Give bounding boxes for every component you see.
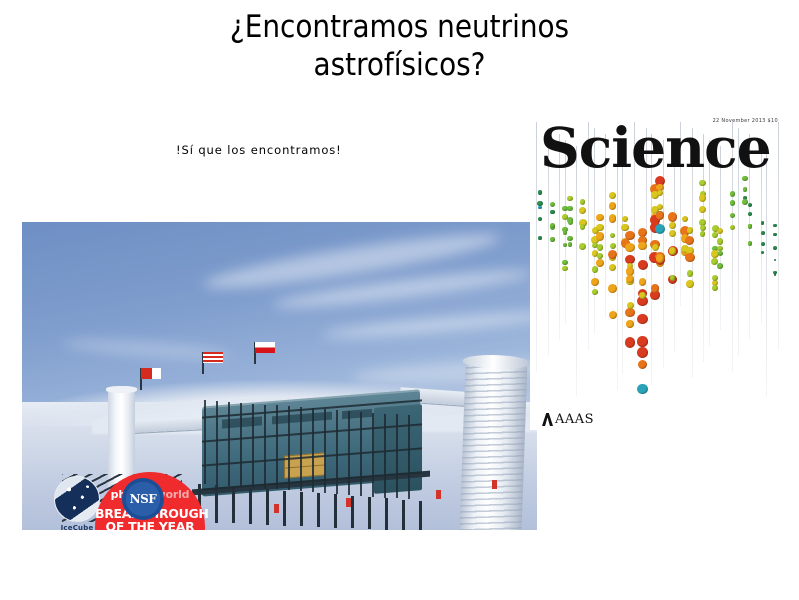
event-hit bbox=[761, 251, 764, 254]
event-hit bbox=[538, 236, 542, 240]
event-hit bbox=[567, 236, 572, 241]
event-hit bbox=[730, 225, 735, 230]
event-hit bbox=[562, 260, 568, 266]
event-hit bbox=[596, 214, 604, 222]
event-hit bbox=[596, 232, 605, 241]
flag-czech bbox=[255, 342, 275, 353]
event-hit bbox=[538, 206, 541, 209]
route-marker bbox=[436, 490, 441, 499]
event-hit bbox=[717, 263, 722, 268]
event-hit bbox=[774, 273, 777, 276]
event-hit bbox=[622, 216, 628, 222]
route-marker bbox=[274, 504, 279, 513]
event-hit bbox=[625, 337, 636, 348]
event-hit bbox=[625, 231, 634, 240]
event-hit bbox=[685, 253, 694, 262]
event-hit bbox=[686, 280, 694, 288]
event-hit bbox=[568, 220, 573, 225]
event-hit bbox=[761, 242, 765, 246]
subtitle-text: !Sí que los encontramos! bbox=[176, 143, 342, 157]
event-hit bbox=[638, 360, 647, 369]
route-marker bbox=[346, 498, 351, 507]
event-hit bbox=[610, 243, 616, 249]
icecube-logo-label: IceCube bbox=[52, 524, 102, 530]
nsf-logo-label: NSF bbox=[130, 492, 157, 506]
event-hit bbox=[748, 212, 752, 216]
event-hit bbox=[627, 302, 634, 309]
science-magazine-cover: Science 22 November 2013 $10 AAAS bbox=[530, 112, 784, 430]
event-hit bbox=[668, 212, 677, 221]
event-hit bbox=[682, 216, 688, 222]
flag-chile bbox=[141, 368, 161, 379]
event-hit bbox=[592, 289, 598, 295]
event-hit bbox=[626, 275, 634, 283]
event-hit bbox=[597, 244, 604, 251]
science-masthead: Science bbox=[540, 120, 780, 176]
event-hit bbox=[621, 224, 629, 232]
event-hit bbox=[550, 237, 554, 241]
event-hit bbox=[774, 259, 777, 262]
event-hit bbox=[773, 233, 776, 236]
event-hit bbox=[610, 233, 616, 239]
event-hit bbox=[700, 225, 706, 231]
event-hit bbox=[550, 202, 556, 208]
event-hit bbox=[651, 284, 660, 293]
event-hit bbox=[743, 187, 748, 192]
page-title: ¿Encontramos neutrinos astrofísicos? bbox=[0, 8, 799, 84]
event-hit bbox=[730, 213, 735, 218]
cover-date-line: 22 November 2013 $10 bbox=[713, 118, 778, 124]
slide-canvas: ¿Encontramos neutrinos astrofísicos? !Sí… bbox=[0, 0, 799, 600]
event-hit bbox=[563, 230, 568, 235]
event-hit bbox=[730, 200, 736, 206]
event-hit bbox=[637, 384, 648, 395]
event-hit bbox=[639, 278, 646, 285]
event-hit bbox=[538, 190, 543, 195]
event-hit bbox=[656, 254, 665, 263]
event-hit bbox=[637, 347, 648, 358]
event-hit bbox=[580, 199, 586, 205]
aaas-logo-label: AAAS bbox=[555, 412, 594, 427]
event-hit bbox=[748, 203, 752, 207]
event-hit bbox=[625, 243, 634, 252]
event-hit bbox=[579, 207, 587, 215]
nsf-logo: NSF bbox=[122, 478, 164, 520]
event-hit bbox=[625, 308, 635, 318]
event-hit bbox=[591, 278, 599, 286]
event-hit bbox=[761, 221, 765, 225]
event-hit bbox=[609, 264, 616, 271]
event-hit bbox=[773, 224, 776, 227]
event-hit bbox=[717, 228, 724, 235]
event-hit bbox=[579, 243, 586, 250]
event-hit bbox=[608, 284, 617, 293]
event-hit bbox=[712, 285, 718, 291]
title-line-2: astrofísicos? bbox=[0, 46, 799, 84]
event-hit bbox=[656, 211, 664, 219]
event-hit bbox=[609, 202, 617, 210]
event-hit bbox=[596, 224, 604, 232]
event-hit bbox=[568, 242, 573, 247]
event-hit bbox=[609, 215, 617, 223]
event-hit bbox=[773, 246, 777, 250]
aaas-mark-icon bbox=[542, 413, 553, 426]
event-hit bbox=[567, 196, 573, 202]
event-hit bbox=[609, 311, 617, 319]
icecube-logo: IceCube bbox=[54, 476, 100, 522]
event-hit bbox=[717, 238, 724, 245]
icecube-lab-photo: physicsworld BREAKTHROUGH OF THE YEAR 20… bbox=[22, 222, 537, 530]
event-hit bbox=[592, 266, 599, 273]
event-hit bbox=[626, 320, 634, 328]
event-hit bbox=[718, 251, 723, 256]
event-hit bbox=[608, 250, 617, 259]
event-hit bbox=[699, 194, 707, 202]
event-hit bbox=[761, 231, 765, 235]
event-hit bbox=[538, 217, 542, 221]
event-hit bbox=[748, 224, 753, 229]
event-hit bbox=[685, 236, 694, 245]
event-hit bbox=[637, 314, 648, 325]
event-hit bbox=[563, 243, 567, 247]
event-hit bbox=[638, 260, 648, 270]
photo-logo-row: IceCube NSF bbox=[54, 476, 164, 522]
event-hit bbox=[550, 210, 555, 215]
event-hit bbox=[742, 199, 748, 205]
event-hit bbox=[596, 259, 604, 267]
event-hit bbox=[699, 180, 706, 187]
title-line-1: ¿Encontramos neutrinos bbox=[0, 8, 799, 46]
event-hit bbox=[730, 191, 736, 197]
event-hit bbox=[687, 270, 694, 277]
event-hit bbox=[669, 247, 676, 254]
event-hit bbox=[562, 266, 567, 271]
tower-right bbox=[459, 361, 528, 530]
event-hit bbox=[580, 224, 586, 230]
event-hit bbox=[748, 241, 753, 246]
event-hit bbox=[609, 192, 616, 199]
event-hit bbox=[567, 206, 572, 211]
route-marker bbox=[492, 480, 497, 489]
event-hit bbox=[597, 253, 603, 259]
aaas-logo: AAAS bbox=[542, 412, 594, 427]
event-hit bbox=[700, 231, 706, 237]
flag-usa bbox=[203, 352, 223, 363]
event-hit bbox=[687, 227, 694, 234]
event-hit bbox=[652, 244, 659, 251]
event-hit bbox=[669, 222, 676, 229]
event-hit bbox=[699, 206, 706, 213]
